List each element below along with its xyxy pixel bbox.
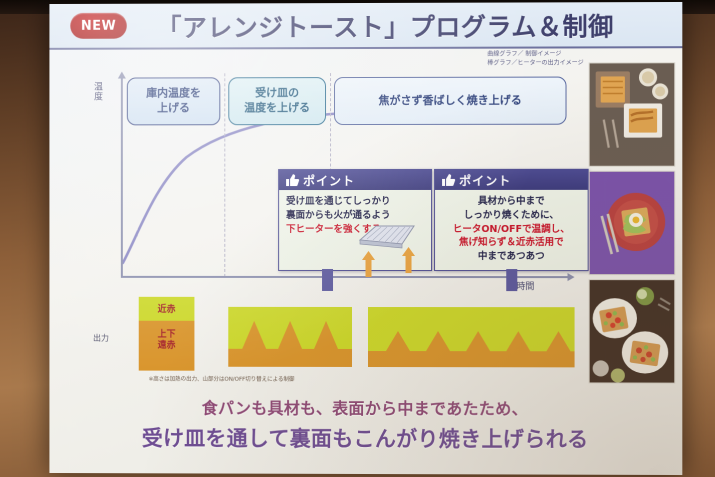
temperature-graph: 温度 時間 庫内温度を 上げる 受け皿の 温度を上げる 焦がさず香ばしく焼き上げ…	[77, 65, 568, 288]
heater-output-bar-chart: 出力 近赤 上下 遠赤 ※高さは加熱の出力、山部分はON/OFF切り替えによる制…	[77, 293, 576, 390]
callout-1-stem	[322, 269, 333, 291]
x-axis	[121, 276, 569, 278]
output-bar-block-2	[368, 307, 575, 367]
phase-box-2-line-1: 受け皿の	[244, 86, 310, 101]
callout-2-line-4: 焦げ知らず＆近赤活用で	[439, 236, 584, 250]
callout-2-body: 具材から中まで しっかり焼くために、 ヒータON/OFFで温調し、 焦げ知らず＆…	[435, 190, 588, 270]
output-bar-block-1	[228, 307, 352, 367]
phase-box-2-line-2: 温度を上げる	[244, 101, 310, 116]
callout-1-header-label: ポイント	[303, 172, 355, 189]
bar-chart-footnote: ※高さは加熱の出力、山部分はON/OFF切り替えによる制御	[149, 375, 295, 383]
thumbs-up-icon	[441, 173, 456, 187]
header-divider	[49, 46, 682, 50]
callout-1-line-1: 受け皿を通じてしっかり	[286, 195, 427, 209]
callout-1-header: ポイント	[279, 170, 431, 190]
heat-up-arrow-2	[402, 247, 415, 273]
new-badge: NEW	[70, 13, 127, 39]
phase-box-3-label: 焦がさず香ばしく焼き上げる	[379, 93, 522, 108]
photo-toast-on-dark-tray	[589, 62, 676, 167]
phase-box-1-line-2: 上げる	[146, 101, 201, 116]
photo-avocado-egg-toast	[589, 171, 676, 275]
footer-message-line-1: 食パンも具材も、表面から中まであたため、	[49, 394, 682, 419]
photo-strip	[585, 62, 678, 385]
photo-veggie-toasts	[589, 279, 676, 383]
phase-box-3: 焦がさず香ばしく焼き上げる	[334, 77, 567, 125]
y-axis	[121, 78, 123, 277]
y-axis-label: 温度	[91, 82, 104, 102]
callout-2-line-5: 中まであつあつ	[439, 250, 584, 264]
phase-box-1-line-1: 庫内温度を	[146, 86, 201, 101]
callout-2-stem	[506, 269, 517, 291]
callout-2-line-2: しっかり焼くために、	[439, 209, 584, 223]
x-axis-label: 時間	[516, 279, 534, 292]
callout-point-2: ポイント 具材から中まで しっかり焼くために、 ヒータON/OFFで温調し、 焦…	[434, 169, 589, 271]
callout-2-header-label: ポイント	[459, 171, 511, 188]
legend-far-infrared-line-2: 遠赤	[139, 341, 195, 352]
callout-2-line-1: 具材から中まで	[439, 195, 584, 209]
heat-up-arrow-1	[362, 251, 375, 277]
projected-slide: NEW 「アレンジトースト」プログラム＆制御 曲線グラフ／ 制御イメージ 棒グラ…	[49, 2, 682, 475]
page-title: 「アレンジトースト」プログラム＆制御	[157, 7, 614, 44]
bar-chart-legend: 近赤 上下 遠赤	[139, 297, 195, 371]
room-wall-background: NEW 「アレンジトースト」プログラム＆制御 曲線グラフ／ 制御イメージ 棒グラ…	[0, 0, 715, 477]
legend-near-infrared-label: 近赤	[139, 302, 195, 315]
legend-far-infrared-label: 上下 遠赤	[139, 330, 195, 353]
legend-far-infrared-line-1: 上下	[139, 330, 195, 341]
legend-note-line-1: 曲線グラフ／ 制御イメージ	[487, 49, 583, 58]
callout-2-header: ポイント	[435, 170, 588, 190]
callout-2-line-3: ヒータON/OFFで温調し、	[439, 222, 584, 236]
phase-divider-1	[224, 73, 225, 277]
phase-box-1: 庫内温度を 上げる	[127, 77, 220, 125]
thumbs-up-icon	[285, 173, 300, 187]
phase-box-2: 受け皿の 温度を上げる	[228, 77, 326, 125]
output-axis-label: 出力	[93, 333, 109, 344]
footer-message-line-2: 受け皿を通して裏面もこんがり焼き上げられる	[49, 422, 682, 454]
footer-message: 食パンも具材も、表面から中まであたため、 受け皿を通して裏面もこんがり焼き上げら…	[49, 394, 682, 454]
